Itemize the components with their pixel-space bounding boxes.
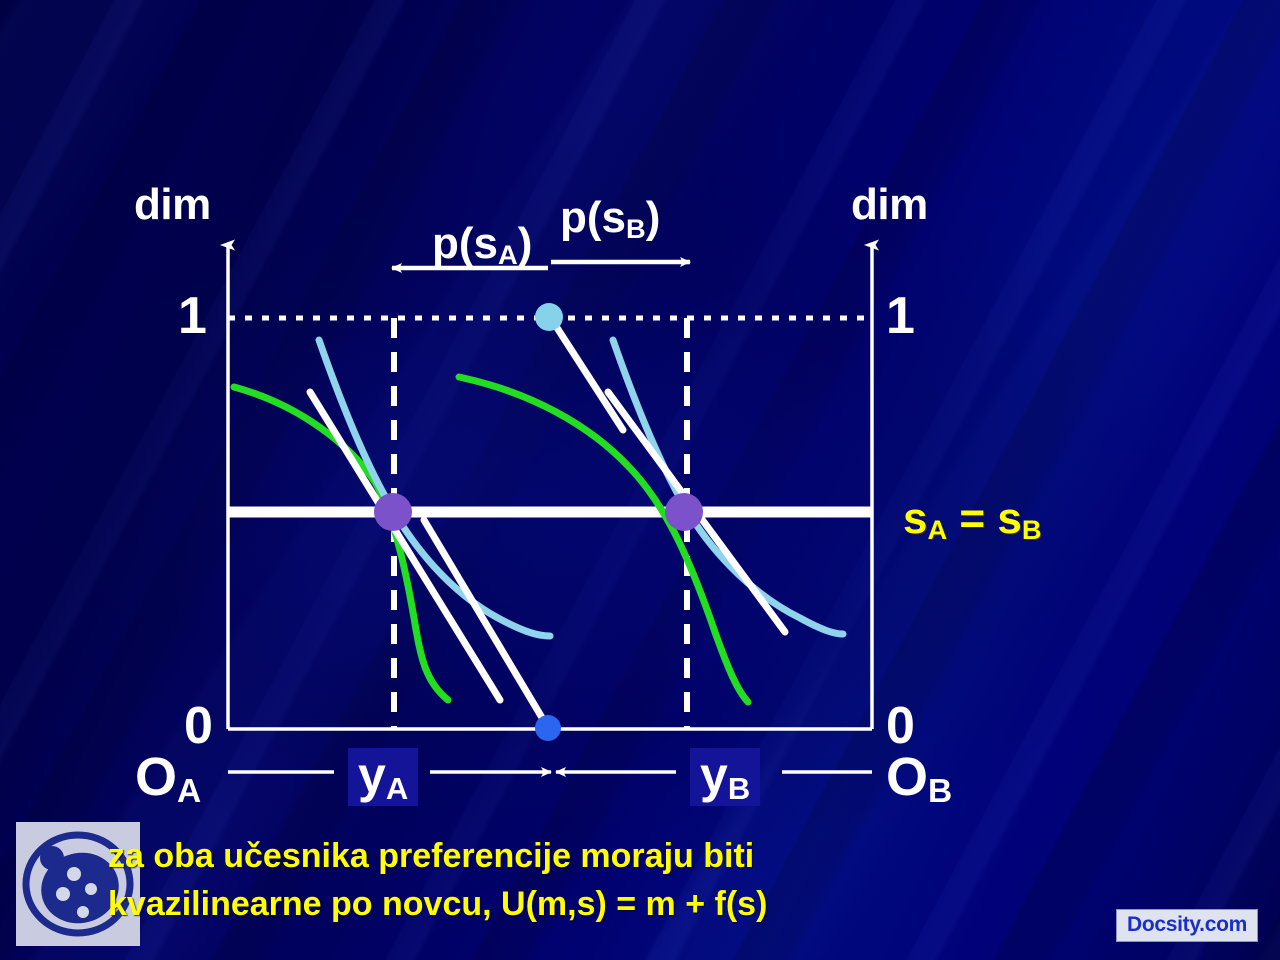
left-axis-title: dim xyxy=(134,183,211,227)
equality-s-a: s xyxy=(903,494,927,543)
caption-line-1: za oba učesnika preferencije moraju biti xyxy=(108,832,1008,880)
price-a-label: p(sA) xyxy=(432,222,532,266)
left-tick-zero: 0 xyxy=(184,700,213,752)
price-b-paren: ) xyxy=(646,193,661,242)
logo-spot-2 xyxy=(56,887,70,901)
price-a-paren: ) xyxy=(518,219,533,268)
docsity-watermark: Docsity.com xyxy=(1116,909,1258,942)
logo-spot-3 xyxy=(85,883,97,895)
right-axis-title: dim xyxy=(851,183,928,227)
logo-spot-4 xyxy=(77,906,89,918)
price-b-text: p(s xyxy=(560,193,626,242)
slide-canvas: dim dim 1 0 1 0 OA OB p(sA) p(sB) yA yB … xyxy=(0,0,1280,960)
endowment-a-subscript: A xyxy=(386,771,408,806)
tangent-line-a-white xyxy=(310,392,500,700)
equilibrium-point-b xyxy=(665,493,703,531)
endowment-b-label: yB xyxy=(690,748,760,806)
endowment-b-subscript: B xyxy=(728,771,750,806)
caption-line-2: kvazilinearne po novcu, U(m,s) = m + f(s… xyxy=(108,880,1008,928)
equality-middle: = s xyxy=(947,494,1022,543)
endowment-a-label: yA xyxy=(348,748,418,806)
origin-a-letter: O xyxy=(135,747,177,807)
origin-a-subscript: A xyxy=(177,773,201,810)
endowment-a-letter: y xyxy=(358,747,386,803)
origin-b-subscript: B xyxy=(928,773,952,810)
right-tick-zero: 0 xyxy=(886,700,915,752)
origin-a-label: OA xyxy=(135,750,201,804)
top-budget-endpoint-dot xyxy=(535,303,563,331)
equilibrium-point-a xyxy=(374,493,412,531)
price-b-subscript: B xyxy=(626,213,646,244)
price-a-text: p(s xyxy=(432,219,498,268)
origin-b-letter: O xyxy=(886,747,928,807)
equality-label: sA = sB xyxy=(903,497,1042,541)
equality-subscript-b: B xyxy=(1022,514,1042,545)
budget-line-spacer xyxy=(547,426,620,726)
edgeworth-box-figure xyxy=(0,0,1280,960)
right-tick-one: 1 xyxy=(886,290,915,342)
price-b-label: p(sB) xyxy=(560,196,660,240)
origin-b-label: OB xyxy=(886,750,952,804)
price-a-subscript: A xyxy=(498,239,518,270)
caption-block: za oba učesnika preferencije moraju biti… xyxy=(108,832,1008,929)
bottom-budget-endpoint-dot xyxy=(535,715,561,741)
left-tick-one: 1 xyxy=(178,290,207,342)
endowment-b-letter: y xyxy=(700,747,728,803)
logo-spot-1 xyxy=(67,867,81,881)
equality-subscript-a: A xyxy=(927,514,947,545)
